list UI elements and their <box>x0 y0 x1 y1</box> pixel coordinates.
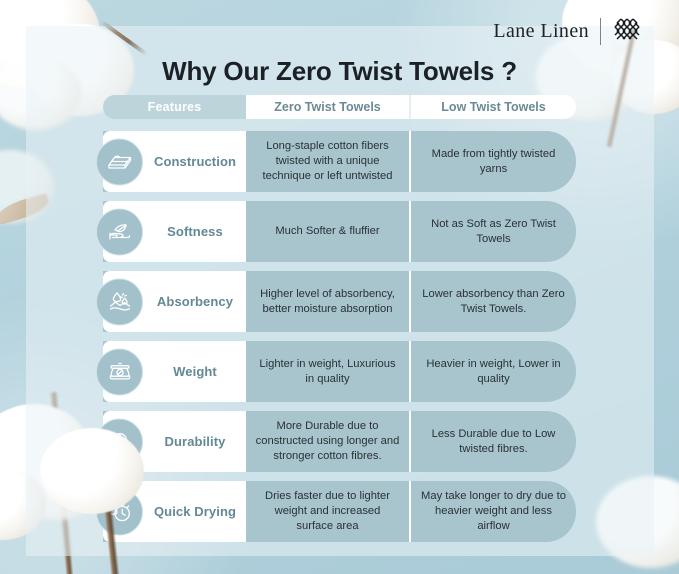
zero-twist-value: Lighter in weight, Luxurious in quality <box>246 341 411 402</box>
brand-logo: Lane Linen <box>493 16 642 46</box>
down-arrow-circle-wave-icon <box>96 418 143 465</box>
water-droplet-absorption-icon <box>96 278 143 325</box>
table-row: Quick Drying Dries faster due to lighter… <box>103 481 576 542</box>
low-twist-value: Made from tightly twisted yarns <box>411 131 576 192</box>
low-twist-value: Less Durable due to Low twisted fibres. <box>411 411 576 472</box>
zero-twist-value: Dries faster due to lighter weight and i… <box>246 481 411 542</box>
feather-on-hand-icon <box>96 208 143 255</box>
zero-twist-value: Long-staple cotton fibers twisted with a… <box>246 131 411 192</box>
feature-cell: Durability <box>103 411 246 472</box>
woven-lattice-diamond-icon <box>612 16 642 46</box>
kitchen-scale-icon <box>96 348 143 395</box>
table-row: Weight Lighter in weight, Luxurious in q… <box>103 341 576 402</box>
feature-cell: Construction <box>103 131 246 192</box>
table-row: Construction Long-staple cotton fibers t… <box>103 131 576 192</box>
low-twist-value: Lower absorbency than Zero Twist Towels. <box>411 271 576 332</box>
feature-cell: Absorbency <box>103 271 246 332</box>
infographic-canvas: Lane Linen <box>0 0 679 574</box>
zero-twist-value: Much Softer & fluffier <box>246 201 411 262</box>
folded-towel-icon <box>96 138 143 185</box>
table-row: Softness Much Softer & fluffier Not as S… <box>103 201 576 262</box>
header-features: Features <box>103 95 246 119</box>
feature-cell: Quick Drying <box>103 481 246 542</box>
brand-divider <box>600 18 601 45</box>
stopwatch-droplet-icon <box>96 488 143 535</box>
header-zero-twist-towels: Zero Twist Towels <box>246 95 411 119</box>
table-row: Absorbency Higher level of absorbency, b… <box>103 271 576 332</box>
low-twist-value: Heavier in weight, Lower in quality <box>411 341 576 402</box>
table-row: Durability More Durable due to construct… <box>103 411 576 472</box>
zero-twist-value: Higher level of absorbency, better moist… <box>246 271 411 332</box>
zero-twist-value: More Durable due to constructed using lo… <box>246 411 411 472</box>
comparison-table: Features Zero Twist Towels Low Twist Tow… <box>103 95 576 551</box>
low-twist-value: Not as Soft as Zero Twist Towels <box>411 201 576 262</box>
table-header-row: Features Zero Twist Towels Low Twist Tow… <box>103 95 576 119</box>
low-twist-value: May take longer to dry due to heavier we… <box>411 481 576 542</box>
feature-cell: Weight <box>103 341 246 402</box>
brand-name: Lane Linen <box>493 20 589 43</box>
feature-cell: Softness <box>103 201 246 262</box>
header-low-twist-towels: Low Twist Towels <box>411 95 576 119</box>
page-title: Why Our Zero Twist Towels ? <box>0 56 679 87</box>
